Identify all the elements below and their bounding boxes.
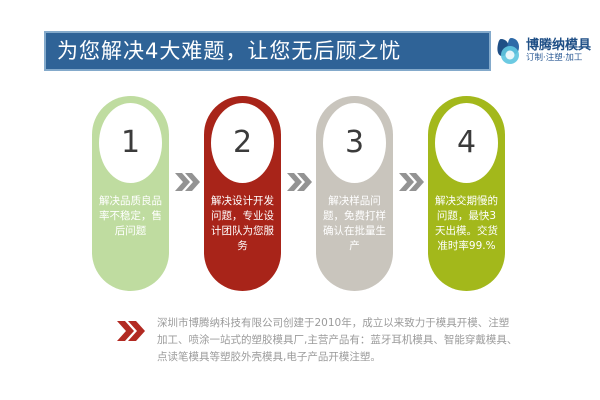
step-description-4: 解决交期慢的问题，最快3天出模。交货准时率99.%: [431, 194, 503, 254]
step-number-3: 3: [345, 128, 364, 158]
page-title: 为您解决4大难题，让您无后顾之忧: [46, 41, 401, 62]
step-card-1: 1 解决品质良品率不稳定，售后问题: [92, 96, 169, 291]
double-chevron-right-icon-1: [174, 172, 200, 192]
double-chevron-right-icon-3: [398, 172, 424, 192]
step-description-3: 解决样品问题，免费打样确认在批量生产: [319, 194, 391, 254]
step-card-2: 2 解决设计开发问题，专业设计团队为您服务: [204, 96, 281, 291]
step-card-3: 3 解决样品问题，免费打样确认在批量生产: [316, 96, 393, 291]
company-intro-line-2: 加工、喷涂一站式的塑胶模具厂,主营产品有：蓝牙耳机模具、智能穿戴模具、: [157, 332, 582, 349]
logo-company-name: 博腾纳模具: [526, 39, 591, 52]
step-number-1: 1: [121, 128, 140, 158]
step-number-badge-4: 4: [435, 103, 498, 183]
company-intro-block: 深圳市博腾纳科技有限公司创建于2010年，成立以来致力于模具开模、注塑 加工、喷…: [0, 310, 600, 382]
double-chevron-right-icon-2: [286, 172, 312, 192]
company-intro-line-3: 点读笔模具等塑胶外壳模具,电子产品开模注塑。: [157, 349, 582, 366]
company-logo: 博腾纳模具 订制·注塑·加工: [497, 30, 597, 72]
step-description-2: 解决设计开发问题，专业设计团队为您服务: [207, 194, 279, 254]
step-description-1: 解决品质良品率不稳定，售后问题: [95, 194, 167, 239]
company-intro-line-1: 深圳市博腾纳科技有限公司创建于2010年，成立以来致力于模具开模、注塑: [157, 315, 582, 332]
steps-row: 1 解决品质良品率不稳定，售后问题 2 解决设计开发问题，专业设计团队为您服务 …: [0, 96, 600, 296]
step-number-2: 2: [233, 128, 252, 158]
logo-text-block: 博腾纳模具 订制·注塑·加工: [526, 39, 591, 63]
step-number-4: 4: [457, 128, 476, 158]
company-intro-text: 深圳市博腾纳科技有限公司创建于2010年，成立以来致力于模具开模、注塑 加工、喷…: [157, 315, 582, 366]
double-chevron-right-icon-footer: [116, 320, 146, 342]
droplet-logo-icon: [497, 36, 523, 66]
step-number-badge-2: 2: [211, 103, 274, 183]
step-number-badge-1: 1: [99, 103, 162, 183]
step-number-badge-3: 3: [323, 103, 386, 183]
step-card-4: 4 解决交期慢的问题，最快3天出模。交货准时率99.%: [428, 96, 505, 291]
page-header: 为您解决4大难题，让您无后顾之忧 博腾纳模具 订制·注塑·加工: [0, 0, 600, 92]
title-banner: 为您解决4大难题，让您无后顾之忧: [44, 31, 491, 71]
logo-tagline: 订制·注塑·加工: [526, 54, 591, 63]
